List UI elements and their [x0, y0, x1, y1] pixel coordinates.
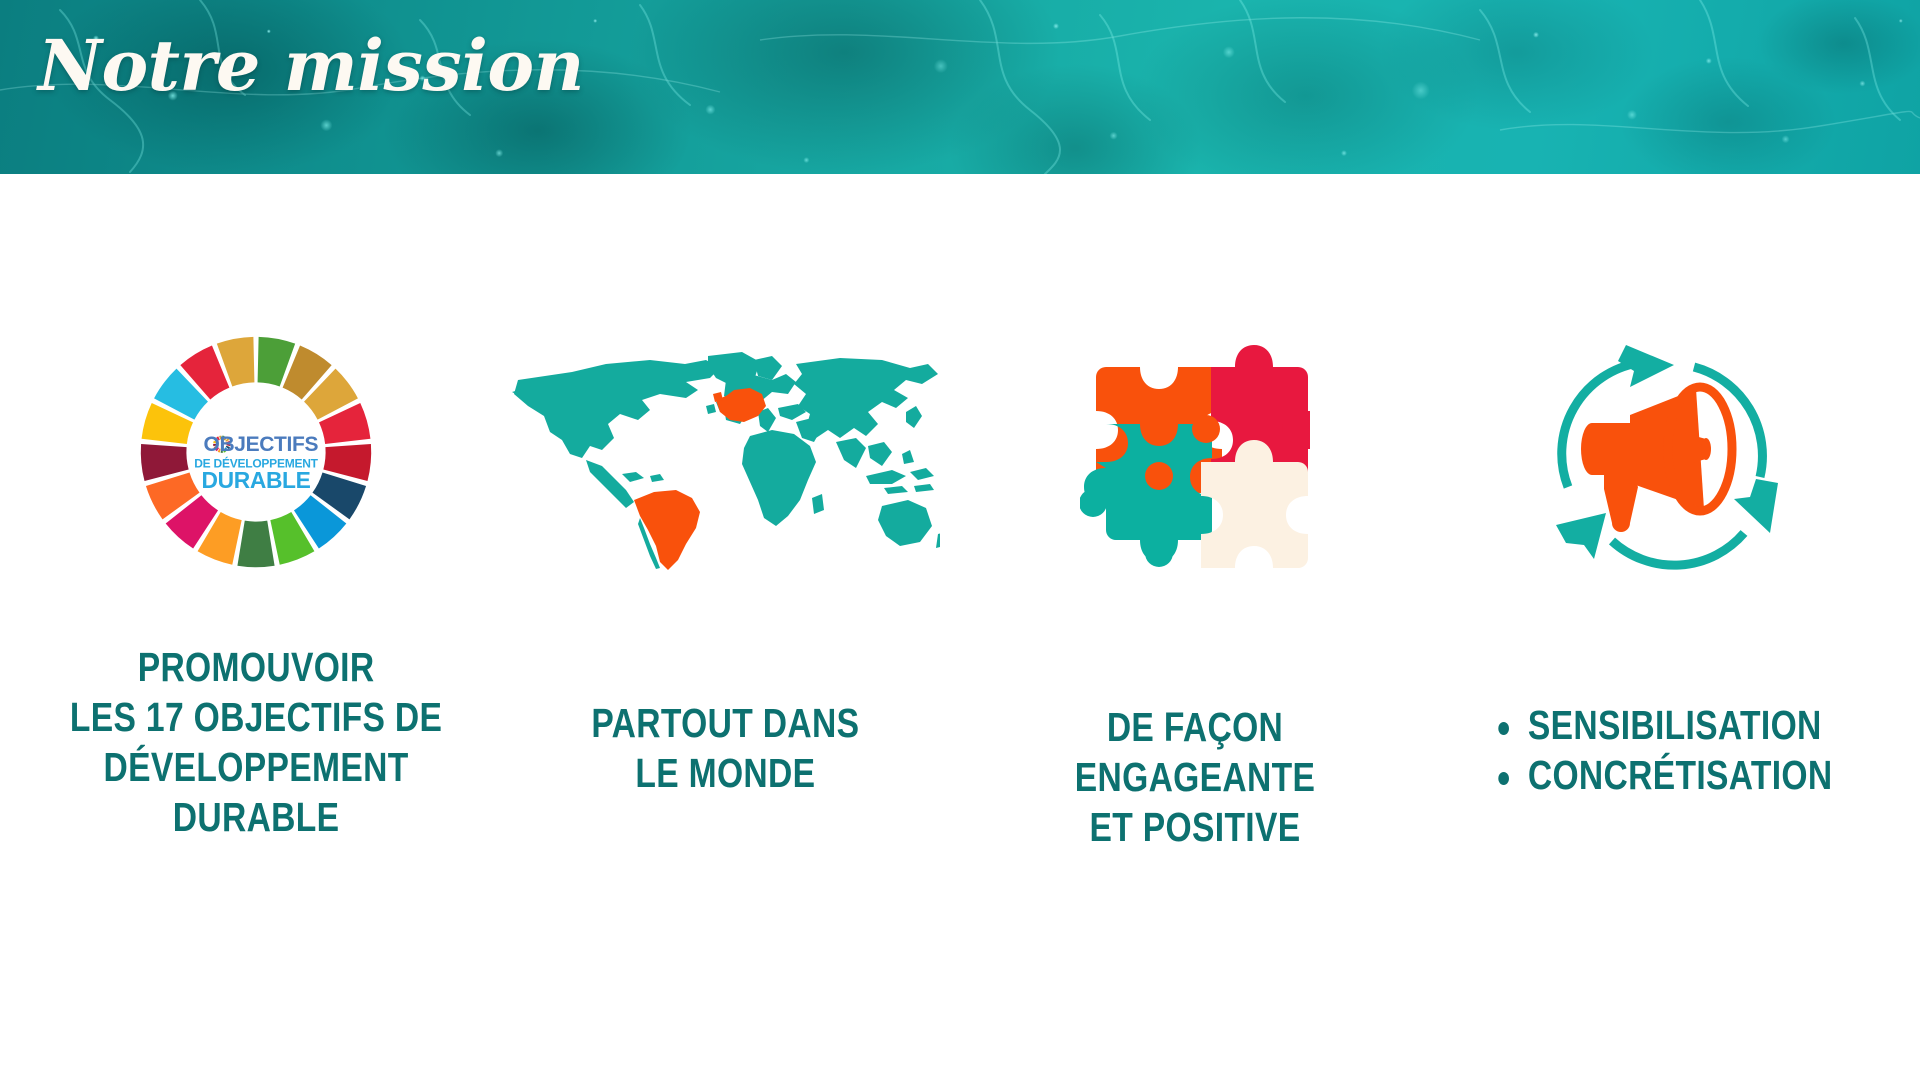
mission-column-world: PARTOUT DANS LE MONDE	[495, 174, 955, 798]
world-icon-container	[495, 300, 955, 620]
sdg-caption: PROMOUVOIR LES 17 OBJECTIFS DE DÉVELOPPE…	[70, 642, 442, 842]
puzzle-piece-bottom-left	[1084, 424, 1212, 562]
mission-column-puzzle: DE FAÇON ENGAGEANTE ET POSITIVE	[965, 174, 1425, 852]
sdg-icon-container: OBJECTIFS DE DÉVELOPPEMENT DURABLE	[26, 292, 486, 612]
page-title: Notre mission	[38, 24, 584, 107]
sdg-wheel-segment	[237, 521, 274, 568]
megaphone-cycle-icon	[1534, 327, 1794, 577]
slide-root: Notre mission OBJECTIFS DE DÉVELOPPEMENT…	[0, 0, 1920, 1080]
puzzle-knob-bottom-left	[1145, 539, 1173, 567]
puzzle-knob-far-right	[1282, 415, 1310, 443]
mission-columns: OBJECTIFS DE DÉVELOPPEMENT DURABLE PROMO…	[0, 174, 1920, 1080]
puzzle-caption: DE FAÇON ENGAGEANTE ET POSITIVE	[1006, 702, 1383, 852]
action-bullet-item: CONCRÉTISATION	[1495, 750, 1832, 800]
action-bullet-item: SENSIBILISATION	[1495, 700, 1832, 750]
world-caption: PARTOUT DANS LE MONDE	[591, 698, 859, 798]
world-map-icon	[510, 350, 940, 570]
header-banner: Notre mission	[0, 0, 1920, 174]
mission-column-action: SENSIBILISATION CONCRÉTISATION	[1434, 174, 1894, 841]
sdg-wheel-icon: OBJECTIFS DE DÉVELOPPEMENT DURABLE	[136, 332, 376, 572]
puzzle-knob-bottom	[1145, 462, 1173, 490]
megaphone-icon-container	[1434, 292, 1894, 612]
puzzle-knob-left	[1080, 489, 1107, 517]
sdg-center-line3: DURABLE	[202, 467, 311, 493]
sdg-center-line1: OBJECTIFS	[203, 433, 318, 456]
mission-column-sdg: OBJECTIFS DE DÉVELOPPEMENT DURABLE PROMO…	[26, 174, 486, 842]
puzzle-icon-container	[965, 296, 1425, 616]
megaphone-icon	[1581, 387, 1732, 532]
puzzle-knob-right	[1192, 415, 1220, 443]
puzzle-pieces-icon	[1080, 341, 1310, 571]
world-map-continents	[512, 352, 940, 548]
action-bullet-list: SENSIBILISATION CONCRÉTISATION	[1495, 700, 1832, 800]
